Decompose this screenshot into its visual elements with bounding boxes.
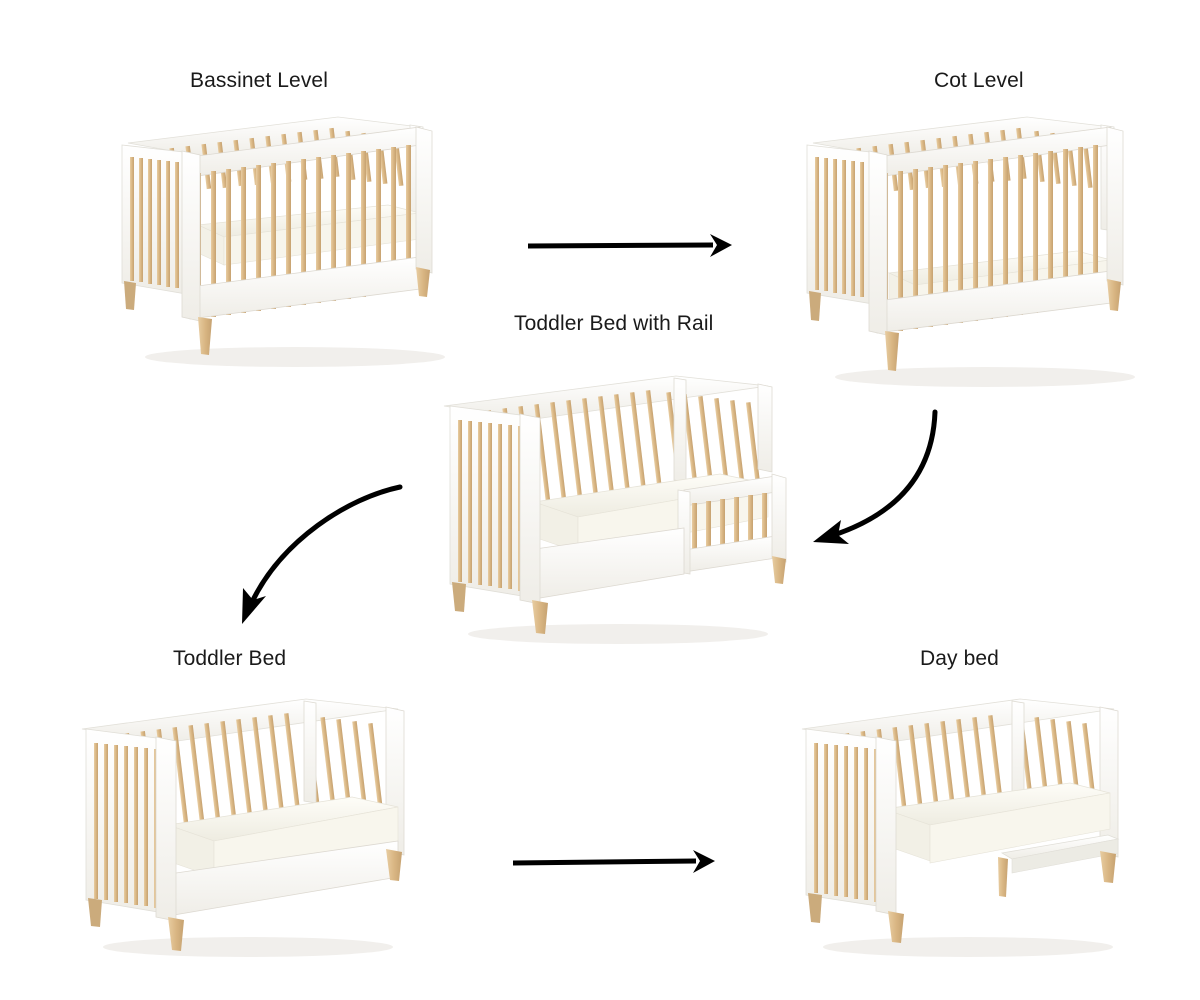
crib-right-end-panel: [416, 127, 432, 273]
bed-leg-rear-left: [452, 582, 466, 612]
bed-left-front-post: [876, 737, 896, 915]
stage-label-cot-level: Cot Level: [934, 70, 1024, 91]
crib-shadow: [468, 624, 768, 644]
crib-shadow: [103, 937, 393, 957]
crib-leg-front-left: [885, 331, 899, 371]
crib-image-toddler-bed-with-rail: [428, 362, 803, 647]
crib-shadow: [823, 937, 1113, 957]
crib-image-bassinet-level: [120, 105, 460, 370]
bed-left-front-post: [520, 414, 540, 604]
bed-left-front-post: [156, 737, 176, 921]
bed-rear-right-post: [758, 384, 772, 472]
stage-label-day-bed: Day bed: [920, 648, 999, 669]
crib-left-front-post: [869, 151, 887, 335]
crib-leg-right: [1107, 279, 1121, 311]
crib-leg-rear-left: [124, 281, 136, 310]
bed-right-end-panel: [1100, 707, 1118, 857]
arrow-shaft: [831, 412, 935, 536]
bed-leg-rear-left: [808, 893, 822, 923]
stage-label-toddler-bed: Toddler Bed: [173, 648, 286, 669]
arrow-head: [710, 234, 732, 257]
arrow-cot-to-toddler-rail: [805, 404, 955, 564]
crib-right-end-panel: [1107, 127, 1123, 285]
stage-label-toddler-bed-with-rail: Toddler Bed with Rail: [514, 313, 713, 334]
arrow-toddler-to-daybed: [513, 845, 723, 881]
stage-label-bassinet-level: Bassinet Level: [190, 70, 328, 91]
arrow-shaft: [528, 245, 713, 246]
crib-leg-rear-left: [809, 291, 821, 321]
bed-back-mid-post: [674, 378, 686, 482]
bed-back-mid-post: [1012, 701, 1024, 803]
bed-leg-rear-left: [88, 898, 102, 927]
crib-shadow: [145, 347, 445, 367]
arrow-toddler-rail-to-toddler: [228, 478, 413, 628]
bed-safety-rail-right-post: [772, 474, 786, 562]
bed-safety-rail-bottom: [684, 536, 776, 572]
arrow-head: [693, 850, 715, 873]
arrow-shaft: [252, 487, 400, 602]
bed-back-mid-post: [304, 701, 316, 803]
crib-image-day-bed: [788, 685, 1143, 960]
crib-image-toddler-bed: [68, 685, 423, 960]
crib-left-front-post: [182, 151, 200, 321]
arrow-shaft: [513, 861, 696, 863]
bed-leg-right: [772, 556, 786, 584]
bed-leg-right: [1100, 851, 1116, 883]
arrow-bassinet-to-cot: [528, 228, 738, 264]
crib-image-cot-level: [805, 105, 1155, 390]
bed-mid-support-leg: [998, 857, 1008, 897]
crib-shadow: [835, 367, 1135, 387]
crib-leg-right: [416, 267, 430, 297]
